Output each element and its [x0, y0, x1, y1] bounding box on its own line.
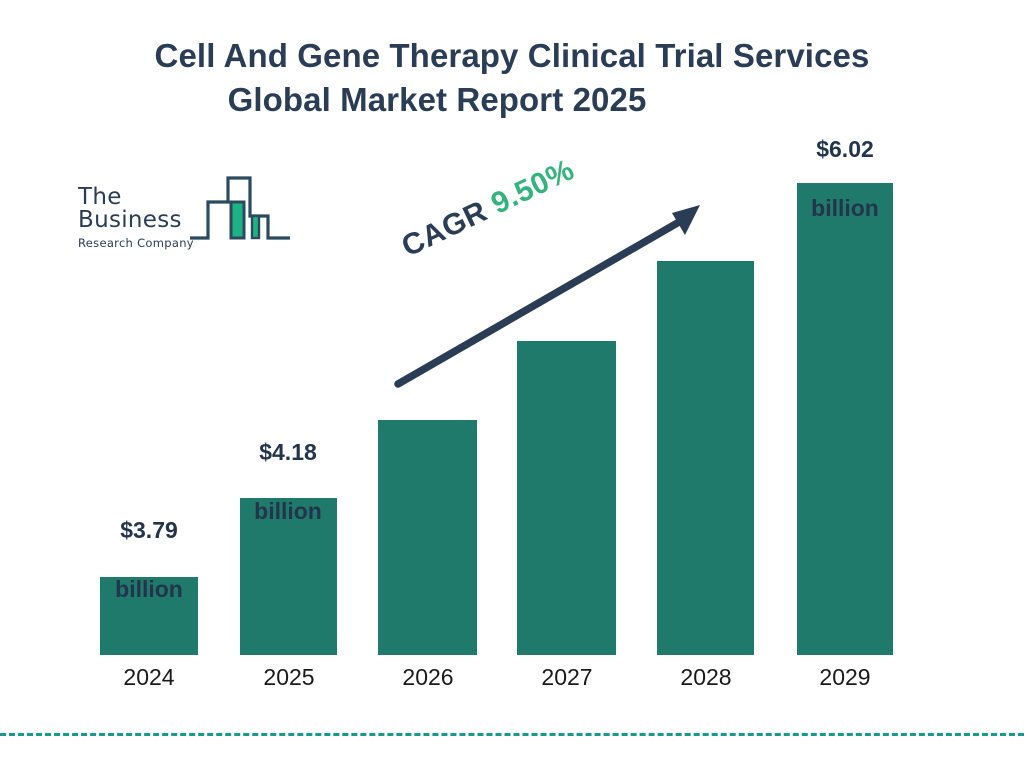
bar-value-amount-2025: $4.18: [228, 438, 348, 467]
bar-value-amount-2029: $6.02: [785, 135, 905, 164]
chart-canvas: Cell And Gene Therapy Clinical Trial Ser…: [0, 0, 1024, 768]
bar-2026[interactable]: [378, 420, 477, 655]
bar-value-unit-2024: billion: [89, 575, 209, 604]
x-axis-tick-2026: 2026: [378, 664, 478, 691]
footer-divider: [0, 733, 1024, 736]
bar-value-label-2025: $4.18 billion: [228, 409, 348, 556]
bar-2029[interactable]: [797, 183, 893, 655]
bar-value-label-2024: $3.79 billion: [89, 487, 209, 634]
bar-value-unit-2029: billion: [785, 194, 905, 223]
x-axis-tick-2024: 2024: [99, 664, 199, 691]
x-axis-tick-2025: 2025: [239, 664, 339, 691]
bar-value-amount-2024: $3.79: [89, 516, 209, 545]
bar-value-unit-2025: billion: [228, 497, 348, 526]
x-axis-tick-2028: 2028: [656, 664, 756, 691]
x-axis-tick-2029: 2029: [795, 664, 895, 691]
x-axis-tick-2027: 2027: [517, 664, 617, 691]
bar-value-label-2029: $6.02 billion: [785, 106, 905, 253]
